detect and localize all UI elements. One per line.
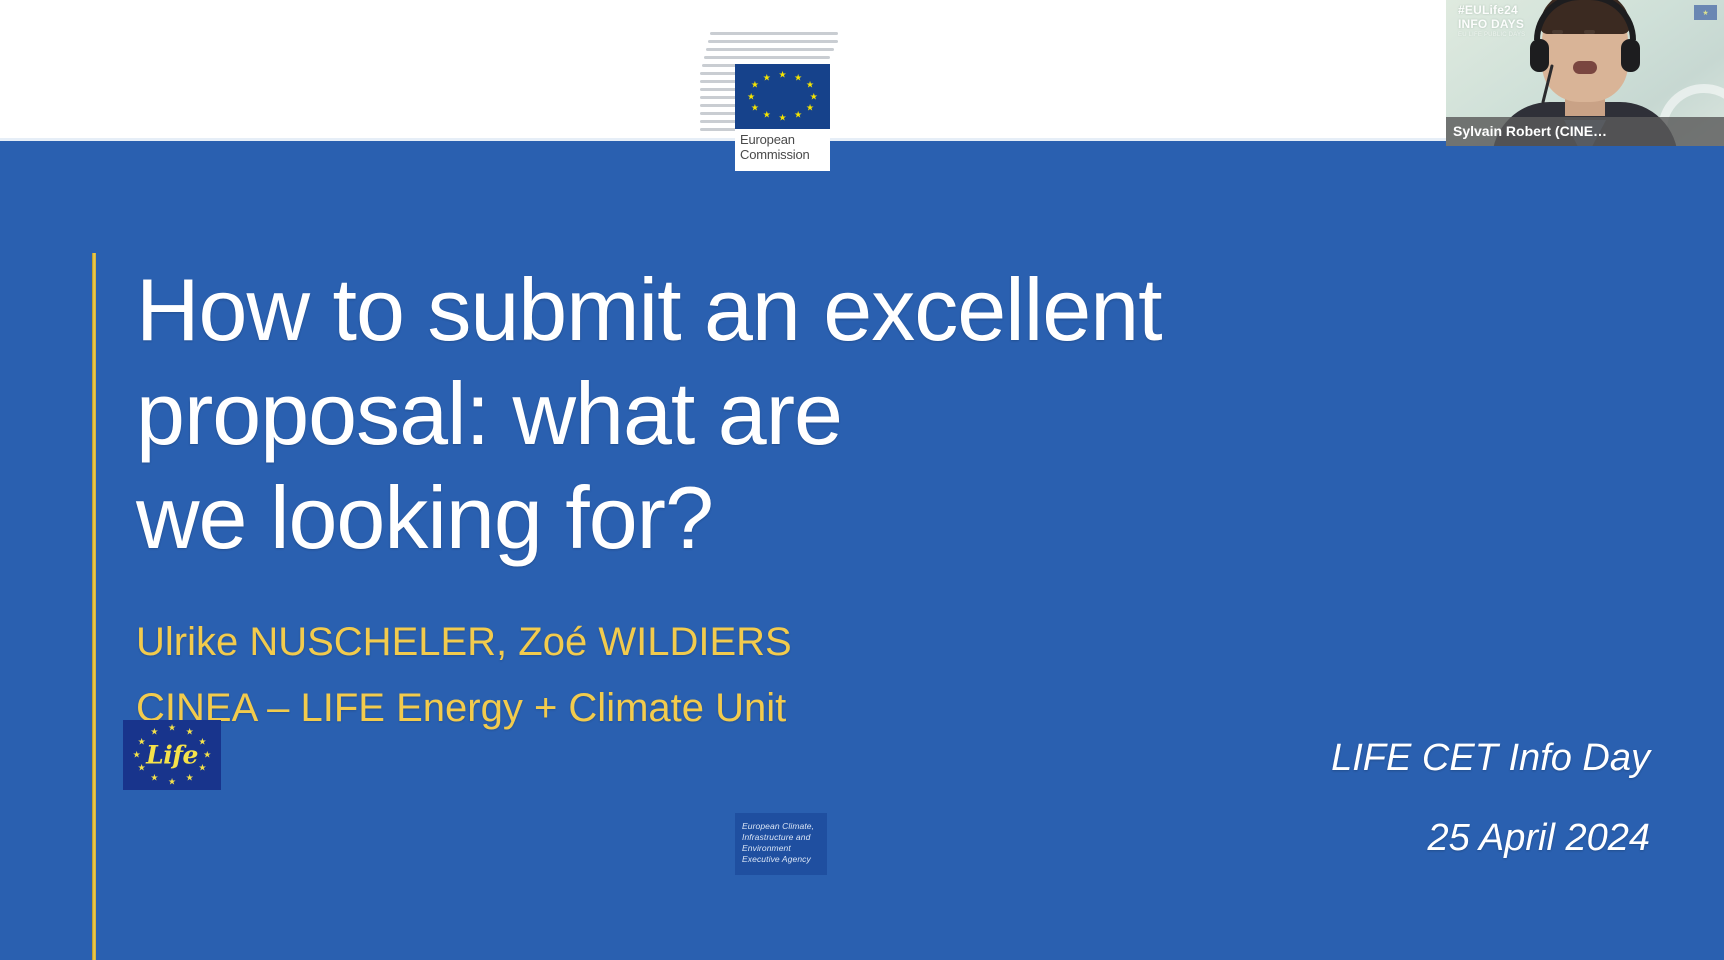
participant-video-tile[interactable]: #EULife24 INFO DAYS EU LIFE PUBLIC DAYS … (1446, 0, 1724, 160)
headset-band-icon (1534, 0, 1636, 40)
event-name: LIFE CET Info Day (1090, 718, 1650, 798)
headset-earcup-right-icon (1621, 39, 1640, 72)
life-programme-logo: ★ ★ ★ ★ ★ ★ ★ ★ ★ ★ ★ ★ Life (123, 720, 221, 790)
life-wordmark: Life (123, 741, 221, 770)
cinea-line-2: Infrastructure and (742, 832, 820, 843)
presentation-screen: ★ ★ ★ ★ ★ ★ ★ ★ ★ ★ ★ ★ European Commiss… (0, 0, 1724, 960)
cinea-agency-logo: European Climate, Infrastructure and Env… (735, 813, 827, 875)
participant-mouth (1573, 61, 1597, 74)
european-commission-logo: ★ ★ ★ ★ ★ ★ ★ ★ ★ ★ ★ ★ European Commiss… (688, 22, 918, 174)
eu-flag-icon: ★ ★ ★ ★ ★ ★ ★ ★ ★ ★ ★ ★ (735, 64, 830, 129)
unit-line: CINEA – LIFE Energy + Climate Unit (136, 675, 1236, 741)
cinea-line-4: Executive Agency (742, 854, 820, 865)
presenters-line: Ulrike NUSCHELER, Zoé WILDIERS (136, 609, 1236, 675)
eu-stars: ★ ★ ★ ★ ★ ★ ★ ★ ★ ★ ★ ★ (735, 64, 830, 129)
title-line-2: proposal: what are (136, 362, 1396, 466)
eu-flag-watermark-icon (1694, 5, 1717, 20)
cinea-line-1: European Climate, (742, 821, 820, 832)
ec-caption-line-2: Commission (740, 147, 826, 162)
event-meta: LIFE CET Info Day 25 April 2024 (1090, 718, 1650, 878)
slide-subtitle: Ulrike NUSCHELER, Zoé WILDIERS CINEA – L… (136, 609, 1236, 741)
ec-caption-line-1: European (740, 132, 826, 147)
cinea-line-3: Environment (742, 843, 820, 854)
slide-title: How to submit an excellent proposal: wha… (136, 258, 1396, 570)
ec-logo-caption: European Commission (735, 129, 830, 171)
title-line-1: How to submit an excellent (136, 258, 1396, 362)
event-date: 25 April 2024 (1090, 798, 1650, 878)
headset-earcup-left-icon (1530, 39, 1549, 72)
video-tile-footer (1446, 146, 1724, 160)
participant-name-label: Sylvain Robert (CINE… (1446, 117, 1724, 146)
accent-rule (92, 253, 96, 960)
title-line-3: we looking for? (136, 466, 1396, 570)
